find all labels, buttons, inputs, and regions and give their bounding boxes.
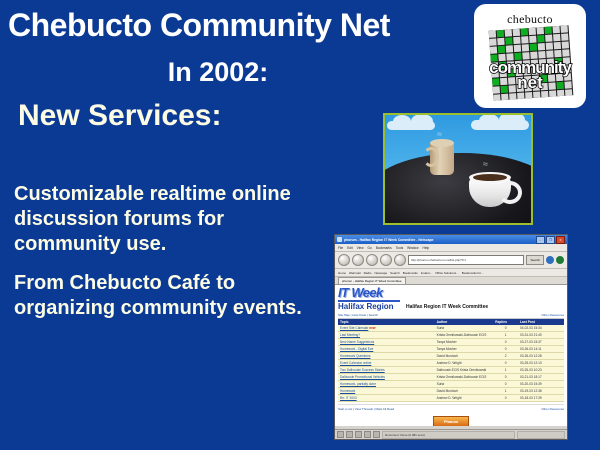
cell-lastpost: 03-19-03 12:38 — [518, 387, 564, 394]
browser-menubar: File Edit View Go Bookmarks Tools Window… — [335, 244, 567, 252]
status-message: Document: Done (0.381 secs) — [382, 431, 515, 439]
cell-topic[interactable]: Homework, partially done — [338, 380, 435, 387]
cell-author: David Murdoch — [435, 387, 494, 394]
cloud-shape — [471, 120, 529, 130]
topic-link[interactable]: Event Site Calendar — [340, 326, 368, 330]
table-row[interactable]: Event Calendar onlineAndrew D. Wright003… — [338, 359, 564, 366]
status-icon-online[interactable] — [337, 431, 344, 438]
site-header: IT Week Halifax Region Halifax Region IT… — [338, 287, 564, 311]
menu-view[interactable]: View — [357, 246, 364, 250]
maximize-button[interactable]: ❐ — [546, 236, 555, 244]
menu-go[interactable]: Go — [368, 246, 372, 250]
personal-item-instant[interactable]: Instant... — [421, 271, 433, 275]
slide-canvas: Chebucto Community Net In 2002: New Serv… — [0, 0, 600, 450]
bullet-item: From Chebucto Café to organizing communi… — [14, 271, 324, 321]
forum-table-body: Event Site Calendar newSurla004-02-03 15… — [338, 325, 564, 402]
site-navbar: Site Map | Help Desk | Search Other Reso… — [338, 312, 564, 319]
search-button[interactable]: Search — [526, 255, 544, 265]
section-heading: New Services: — [18, 98, 398, 134]
footer-links-right[interactable]: Other Resources — [541, 407, 564, 411]
steam-icon: ≈ — [483, 159, 488, 169]
cell-replies: 0 — [493, 373, 518, 380]
cell-replies: 1 — [493, 387, 518, 394]
site-heading: Halifax Region IT Week Committee — [406, 304, 488, 311]
cell-author: Krista Omnikowski-Dalhousie ECIS — [435, 373, 494, 380]
url-input[interactable]: http://phorum.chebucto.ns.ca/list.php?f=… — [408, 255, 524, 265]
cell-author: David Murdoch — [435, 352, 494, 359]
cell-author: Andrew D. Wright — [435, 394, 494, 401]
cell-topic[interactable]: Homework Questions — [338, 352, 435, 359]
page-subtitle: In 2002: — [8, 56, 428, 88]
cell-topic[interactable]: Dalhousie Promotional Vehicles — [338, 373, 435, 380]
table-row[interactable]: Dalhousie Promotional VehiclesKrista Omn… — [338, 373, 564, 380]
cell-lastpost: 03-25-03 12:13 — [518, 359, 564, 366]
coffee-liquid — [473, 174, 507, 181]
netscape-logo-icon[interactable] — [556, 256, 564, 264]
personal-item-radio[interactable]: Radio — [364, 271, 372, 275]
itweek-logo: IT Week Halifax Region — [338, 287, 400, 311]
nav-links-right[interactable]: Other Resources — [541, 313, 564, 317]
status-icon-addressbook[interactable] — [364, 431, 371, 438]
table-row[interactable]: Re: IT 2003Andrew D. Wright003-18-03 17:… — [338, 394, 564, 401]
browser-tabbar: phorum - Halifax Region IT Week Committe… — [335, 277, 567, 285]
chebucto-logo: chebucto community net — [474, 4, 586, 108]
status-icon-compose[interactable] — [355, 431, 362, 438]
browser-statusbar: Document: Done (0.381 secs) — [335, 429, 567, 439]
personal-item-bookmarks-for[interactable]: Bookmarks for... — [462, 271, 484, 275]
forward-icon[interactable] — [352, 254, 364, 266]
menu-file[interactable]: File — [338, 246, 343, 250]
cell-author: Surla — [435, 380, 494, 387]
back-icon[interactable] — [338, 254, 350, 266]
status-icon-security[interactable] — [373, 431, 380, 438]
cell-lastpost: 03-26-03 14:11 — [518, 345, 564, 352]
table-row[interactable]: Homework QuestionsDavid Murdoch203-26-03… — [338, 352, 564, 359]
topic-link[interactable]: Two Dalhousie Success Stories — [340, 368, 385, 372]
stop-icon[interactable] — [380, 254, 392, 266]
browser-navigation-toolbar: http://phorum.chebucto.ns.ca/list.php?f=… — [335, 252, 567, 269]
cell-replies: 0 — [493, 345, 518, 352]
menu-bookmarks[interactable]: Bookmarks — [376, 246, 392, 250]
cell-topic[interactable]: New Name Suggestions — [338, 338, 435, 345]
menu-edit[interactable]: Edit — [347, 246, 353, 250]
cell-author: Tanya Mosher — [435, 338, 494, 345]
cell-topic[interactable]: Homework — [338, 387, 435, 394]
coffee-photo: ≈ ≈ — [383, 113, 533, 225]
cell-lastpost: 03-31-03 21:40 — [518, 331, 564, 338]
logo-grid-pattern — [489, 25, 574, 100]
itweek-logo-line1: IT Week — [338, 287, 400, 299]
personal-item-netscape[interactable]: Netscape — [374, 271, 387, 275]
logo-wordmark-top: chebucto — [474, 12, 586, 27]
menu-tools[interactable]: Tools — [396, 246, 403, 250]
topic-link[interactable]: New Name Suggestions — [340, 340, 374, 344]
personal-item-office[interactable]: Office Solutions... — [435, 271, 458, 275]
forum-table: Topic Author Replies Last Post Event Sit… — [338, 319, 564, 402]
footer-links-left[interactable]: Start a List | View Threads | Mark All R… — [338, 407, 394, 411]
cell-topic[interactable]: Event Calendar online — [338, 359, 435, 366]
browser-title-text: phorum - Halifax Region IT Week Committe… — [344, 238, 536, 242]
home-icon[interactable] — [394, 254, 406, 266]
cell-replies: 1 — [493, 366, 518, 373]
cell-replies: 0 — [493, 338, 518, 345]
tab-phorum[interactable]: phorum - Halifax Region IT Week Committe… — [338, 277, 406, 284]
topic-link[interactable]: Last Meeting? — [340, 333, 360, 337]
status-progress — [517, 431, 565, 439]
menu-help[interactable]: Help — [423, 246, 430, 250]
cell-author: Andrew D. Wright — [435, 359, 494, 366]
topic-link[interactable]: Event Calendar online — [340, 361, 371, 365]
cell-author: Tanya Mosher — [435, 345, 494, 352]
cell-topic[interactable]: Last Meeting? — [338, 331, 435, 338]
browser-titlebar: phorum - Halifax Region IT Week Committe… — [335, 235, 567, 244]
personal-item-home[interactable]: Home — [338, 271, 346, 275]
topic-link[interactable]: Homework - Digital Eve — [340, 347, 373, 351]
reload-icon[interactable] — [366, 254, 378, 266]
cell-author: Krista Omnikowski-Dalhousie ECIS — [435, 331, 494, 338]
steam-icon: ≈ — [437, 129, 442, 139]
cell-replies: 0 — [493, 380, 518, 387]
close-button[interactable]: ✕ — [556, 236, 565, 244]
browser-window: phorum - Halifax Region IT Week Committe… — [334, 234, 568, 440]
nav-links-left[interactable]: Site Map | Help Desk | Search — [338, 313, 378, 317]
topic-link[interactable]: Homework, partially done — [340, 382, 376, 386]
topic-link[interactable]: Dalhousie Promotional Vehicles — [340, 375, 385, 379]
cell-lastpost: 03-26-03 12:28 — [518, 352, 564, 359]
topic-link[interactable]: Homework Questions — [340, 354, 370, 358]
print-icon[interactable] — [546, 256, 554, 264]
cell-replies: 1 — [493, 331, 518, 338]
bullet-item: Customizable realtime online discussion … — [14, 182, 324, 257]
cell-topic[interactable]: Two Dalhousie Success Stories — [338, 366, 435, 373]
cell-lastpost: 03-25-03 10:23 — [518, 366, 564, 373]
table-row[interactable]: Homework - Digital EveTanya Mosher003-26… — [338, 345, 564, 352]
new-badge: new — [368, 326, 375, 330]
personal-item-search[interactable]: Search — [390, 271, 400, 275]
cell-topic[interactable]: Homework - Digital Eve — [338, 345, 435, 352]
forum-footer-links: Start a List | View Threads | Mark All R… — [338, 404, 564, 413]
cell-replies: 2 — [493, 352, 518, 359]
cell-lastpost: 03-27-03 15:37 — [518, 338, 564, 345]
cell-lastpost: 03-18-03 17:39 — [518, 394, 564, 401]
table-row[interactable]: HomeworkDavid Murdoch103-19-03 12:38 — [338, 387, 564, 394]
cell-replies: 0 — [493, 394, 518, 401]
personal-item-bookmarks[interactable]: Bookmarks — [403, 271, 418, 275]
netscape-icon — [337, 237, 342, 242]
personal-item-webmail[interactable]: Webmail — [349, 271, 361, 275]
cell-topic[interactable]: Re: IT 2003 — [338, 394, 435, 401]
table-row[interactable]: Homework, partially doneSurla003-20-03 1… — [338, 380, 564, 387]
table-row[interactable]: New Name SuggestionsTanya Mosher003-27-0… — [338, 338, 564, 345]
topic-link[interactable]: Homework — [340, 389, 355, 393]
cell-replies: 0 — [493, 359, 518, 366]
itweek-logo-line2: Halifax Region — [338, 303, 400, 311]
coffee-mug-rim — [430, 139, 454, 147]
bullet-list: Customizable realtime online discussion … — [14, 182, 324, 335]
table-row[interactable]: Two Dalhousie Success StoriesDalhousie E… — [338, 366, 564, 373]
cloud-shape — [387, 121, 435, 130]
cell-lastpost: 03-20-03 15:39 — [518, 380, 564, 387]
phorum-logo[interactable]: Phorum — [433, 416, 469, 427]
page-title: Chebucto Community Net — [8, 6, 468, 44]
minimize-button[interactable]: – — [536, 236, 545, 244]
table-row[interactable]: Last Meeting?Krista Omnikowski-Dalhousie… — [338, 331, 564, 338]
page-content: IT Week Halifax Region Halifax Region IT… — [335, 285, 567, 426]
personal-toolbar: Home Webmail Radio Netscape Search Bookm… — [335, 269, 567, 277]
cell-lastpost: 03-21-03 18:17 — [518, 373, 564, 380]
status-icon-mail[interactable] — [346, 431, 353, 438]
topic-link[interactable]: Re: IT 2003 — [340, 396, 357, 400]
cell-author: Dalhousie ECIS Krista Omnikowski — [435, 366, 494, 373]
window-controls: – ❐ ✕ — [536, 236, 565, 244]
menu-window[interactable]: Window — [407, 246, 418, 250]
